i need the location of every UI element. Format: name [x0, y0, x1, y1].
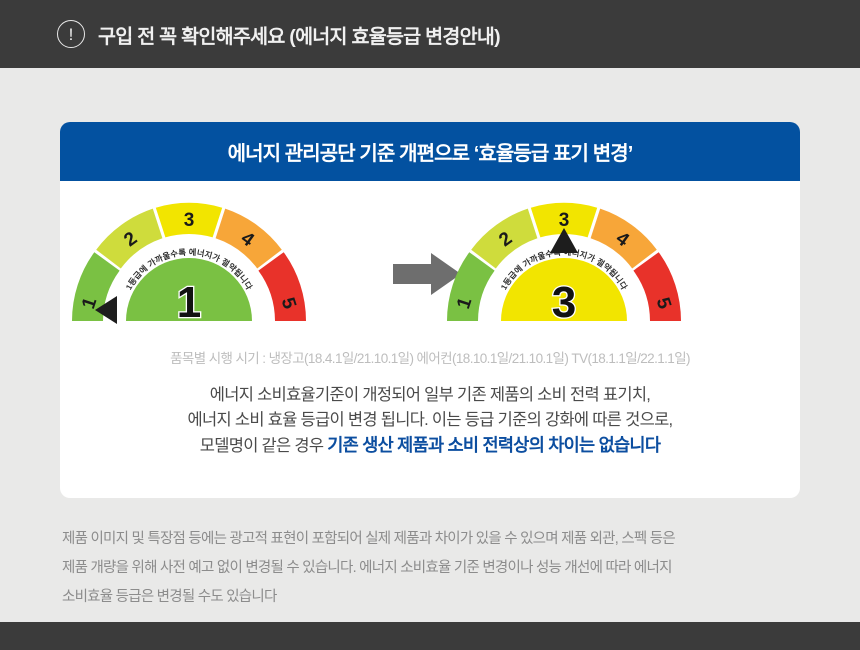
card-banner-title: 에너지 관리공단 기준 개편으로 ‘효율등급 표기 변경’	[228, 137, 633, 166]
disclaimer-line-3: 소비효율 등급은 변경될 수도 있습니다	[62, 583, 802, 612]
disclaimer: 제품 이미지 및 특장점 등에는 광고적 표현이 포함되어 실제 제품과 차이가…	[62, 525, 802, 612]
body-line-3-highlight: 기존 생산 제품과 소비 전력상의 차이는 없습니다	[327, 435, 660, 455]
body-line-1: 에너지 소비효율기준이 개정되어 일부 기존 제품의 소비 전력 표기치,	[60, 383, 800, 408]
body-line-2: 에너지 소비 효율 등급이 변경 됩니다. 이는 등급 기준의 강화에 따른 것…	[60, 408, 800, 433]
page-title: 구입 전 꼭 확인해주세요 (에너지 효율등급 변경안내)	[98, 20, 500, 49]
body-line-3-plain: 모델명이 같은 경우	[200, 437, 328, 455]
schedule-note: 품목별 시행 시기 : 냉장고(18.4.1일/21.10.1일) 에어컨(18…	[60, 347, 800, 367]
before-gauge: 1 2 3 4 5 1등급에 가까울수록 에너지가 절약됩니다 1	[64, 195, 314, 335]
body-paragraph: 에너지 소비효율기준이 개정되어 일부 기존 제품의 소비 전력 표기치, 에너…	[60, 383, 800, 459]
exclamation-circle-icon: !	[57, 20, 85, 48]
after-grade-label-3: 3	[559, 210, 570, 231]
gauge-comparison: 1 2 3 4 5 1등급에 가까울수록 에너지가 절약됩니다 1	[60, 181, 800, 341]
body-line-3: 모델명이 같은 경우 기존 생산 제품과 소비 전력상의 차이는 없습니다	[60, 433, 800, 459]
before-grade-value: 1	[177, 278, 201, 327]
bottom-strip	[0, 622, 860, 650]
notice-card: 에너지 관리공단 기준 개편으로 ‘효율등급 표기 변경’	[60, 122, 800, 498]
card-banner: 에너지 관리공단 기준 개편으로 ‘효율등급 표기 변경’	[60, 122, 800, 181]
before-gauge-graphic: 1 2 3 4 5 1등급에 가까울수록 에너지가 절약됩니다 1	[64, 195, 314, 335]
after-grade-value: 3	[552, 278, 576, 327]
page-header: ! 구입 전 꼭 확인해주세요 (에너지 효율등급 변경안내)	[0, 0, 860, 68]
disclaimer-line-2: 제품 개량을 위해 사전 예고 없이 변경될 수 있습니다. 에너지 소비효율 …	[62, 554, 802, 583]
before-grade-label-3: 3	[184, 210, 195, 231]
after-gauge-graphic: 1 2 3 4 5 1등급에 가까울수록 에너지가 절약됩니다 3	[439, 195, 689, 335]
after-gauge: 1 2 3 4 5 1등급에 가까울수록 에너지가 절약됩니다 3	[439, 195, 689, 335]
disclaimer-line-1: 제품 이미지 및 특장점 등에는 광고적 표현이 포함되어 실제 제품과 차이가…	[62, 525, 802, 554]
